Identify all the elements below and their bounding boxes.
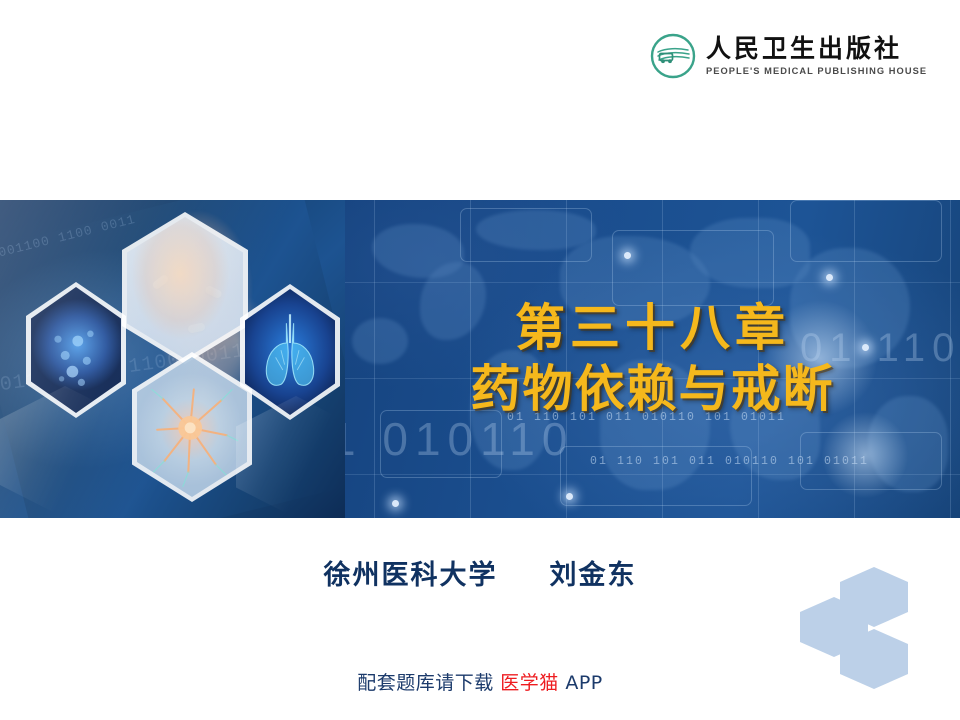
author-name: 刘金东 bbox=[550, 560, 637, 591]
subject-title: 药物依赖与戒断 bbox=[471, 360, 835, 419]
publisher-name-en: PEOPLE'S MEDICAL PUBLISHING HOUSE bbox=[706, 66, 927, 76]
glass-sheen bbox=[0, 200, 345, 518]
medical-hexagon-collage: 0011001100 1100 0011 0011001100 1100 001… bbox=[0, 200, 345, 518]
footer-brand: 医学猫 bbox=[500, 672, 559, 694]
decorative-hexagons bbox=[800, 567, 930, 675]
pmph-circular-emblem-icon bbox=[648, 31, 698, 81]
publisher-name-cn: 人民卫生出版社 bbox=[706, 36, 927, 62]
footer-watermark: 配套题库请下载 医学猫 APP bbox=[0, 668, 960, 695]
publisher-logo: 人民卫生出版社 PEOPLE'S MEDICAL PUBLISHING HOUS… bbox=[648, 28, 904, 84]
author-affiliation: 徐州医科大学 bbox=[324, 560, 498, 591]
title-banner: 01 110 101 011 010110 101 01011 01 110 1… bbox=[0, 200, 960, 518]
banner-title-group: 第三十八章 药物依赖与戒断 bbox=[345, 200, 960, 518]
footer-prefix: 配套题库请下载 bbox=[357, 672, 494, 694]
footer-suffix: APP bbox=[565, 672, 602, 694]
chapter-title: 第三十八章 bbox=[515, 299, 790, 358]
